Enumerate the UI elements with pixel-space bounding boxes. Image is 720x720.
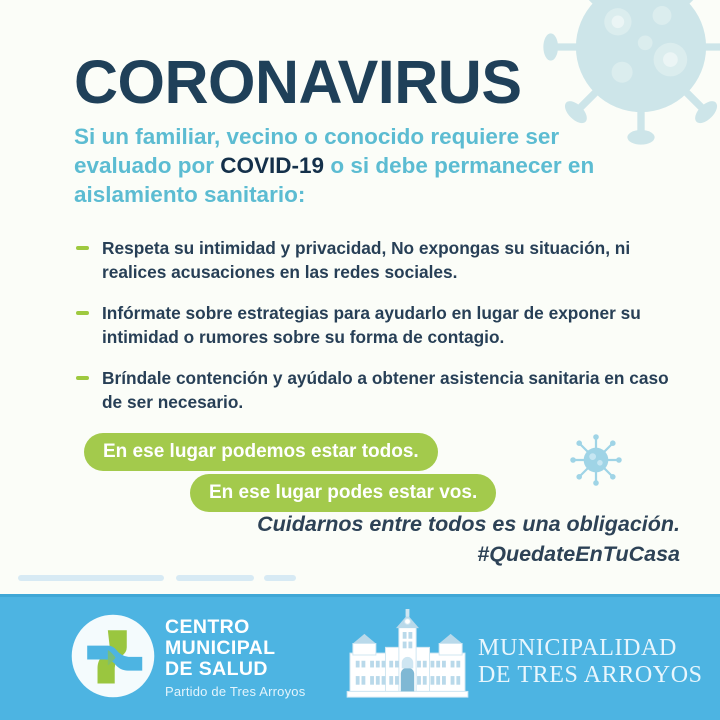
- green-banner-line-2: En ese lugar podes estar vos.: [190, 474, 496, 512]
- health-line-1: CENTRO: [165, 617, 305, 638]
- list-item: Infórmate sobre estrategias para ayudarl…: [76, 301, 676, 349]
- decorative-dashes: [18, 575, 296, 581]
- footer-bar: CENTRO MUNICIPAL DE SALUD Partido de Tre…: [0, 594, 720, 720]
- municipal-building-icon: [345, 609, 470, 701]
- municipality-line-1: MUNICIPALIDAD: [478, 635, 703, 662]
- dash-bullet-icon: [76, 311, 89, 315]
- green-banner-group: En ese lugar podemos estar todos. En ese…: [84, 433, 514, 512]
- list-item-text: Infórmate sobre estrategias para ayudarl…: [102, 303, 641, 347]
- dash-medium: [176, 575, 254, 581]
- green-banner-line-1: En ese lugar podemos estar todos.: [84, 433, 438, 471]
- subtitle-highlight-covid19: COVID-19: [220, 153, 324, 178]
- list-item-text: Respeta su intimidad y privacidad, No ex…: [102, 238, 630, 282]
- centro-municipal-de-salud-logo-icon: [70, 613, 156, 699]
- coronavirus-poster: CORONAVIRUS Si un familiar, vecino o con…: [0, 0, 720, 720]
- health-line-3: DE SALUD: [165, 659, 305, 680]
- slogan-line-1: Cuidarnos entre todos es una obligación.: [160, 509, 680, 539]
- page-title: CORONAVIRUS: [74, 52, 522, 113]
- poster-subtitle: Si un familiar, vecino o conocido requie…: [74, 122, 619, 209]
- recommendation-list: Respeta su intimidad y privacidad, No ex…: [76, 236, 676, 431]
- virus-illustration-small: [568, 432, 624, 488]
- slogan-hashtag: #QuedateEnTuCasa: [160, 539, 680, 569]
- list-item: Bríndale contención y ayúdalo a obtener …: [76, 366, 676, 414]
- health-tagline: Partido de Tres Arroyos: [165, 684, 305, 699]
- list-item-text: Bríndale contención y ayúdalo a obtener …: [102, 368, 669, 412]
- list-item: Respeta su intimidad y privacidad, No ex…: [76, 236, 676, 284]
- dash-short: [264, 575, 296, 581]
- dash-long: [18, 575, 164, 581]
- closing-slogan: Cuidarnos entre todos es una obligación.…: [160, 509, 680, 569]
- health-line-2: MUNICIPAL: [165, 638, 305, 659]
- municipality-wordmark: MUNICIPALIDAD DE TRES ARROYOS: [478, 635, 703, 689]
- health-center-wordmark: CENTRO MUNICIPAL DE SALUD Partido de Tre…: [165, 617, 305, 699]
- dash-bullet-icon: [76, 246, 89, 250]
- municipality-line-2: DE TRES ARROYOS: [478, 662, 703, 689]
- dash-bullet-icon: [76, 376, 89, 380]
